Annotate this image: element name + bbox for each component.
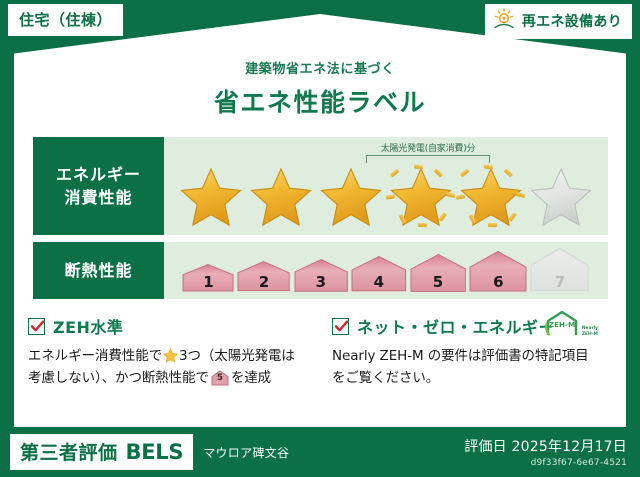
criterion-zeh-text-post: を達成	[231, 370, 271, 386]
label-subtitle: 建築物省エネ法に基づく	[0, 58, 640, 77]
house-grade-number: 6	[469, 273, 527, 291]
criterion-nze-header: ネット・ゼロ・エネルギー ZEH-M Nearly ZEH-M	[332, 313, 598, 339]
house-grade-number: 1	[182, 273, 234, 291]
energy-performance-row: エネルギー 消費性能 太陽光発電(自家消費)分	[33, 137, 608, 235]
house-grade-filled: 5	[410, 253, 467, 294]
zeh-m-caption-line2: ZEH-M	[582, 332, 598, 337]
svg-text:ZEH-M: ZEH-M	[549, 320, 575, 329]
sun-icon	[492, 8, 516, 34]
star-icon	[179, 167, 243, 229]
page-title: 省エネ性能ラベル	[0, 83, 640, 119]
zeh-m-caption-line1: Nearly	[582, 326, 598, 331]
star-filled	[388, 165, 455, 231]
energy-label-line1: エネルギー	[56, 163, 141, 186]
house-grade-number: 4	[351, 273, 407, 291]
house-grade-filled: 4	[351, 255, 407, 294]
house-grade-scale: 1234567	[164, 247, 608, 294]
star-rating	[164, 165, 608, 231]
criterion-zeh-title: ZEH水準	[53, 314, 123, 338]
zeh-m-logo-caption: Nearly ZEH-M	[582, 326, 598, 341]
star-icon	[249, 167, 313, 229]
criterion-zeh-standard: ZEH水準 エネルギー消費性能で 3つ（太陽光発電は考慮しない）、かつ断熱性能で…	[28, 313, 320, 390]
house-grade-filled: 3	[294, 258, 348, 294]
house-grade-filled: 1	[182, 263, 234, 294]
star-filled	[458, 165, 525, 231]
house-grade-empty: 7	[530, 247, 589, 294]
star-empty	[528, 165, 595, 231]
inline-house-grade-number: 5	[211, 371, 229, 386]
label-footer: 第三者評価 BELS マウロア碑文谷 評価日 2025年12月17日 d9f33…	[0, 427, 640, 477]
star-sparkle-icon	[417, 223, 426, 227]
star-icon	[319, 167, 383, 229]
criterion-net-zero-energy: ネット・ゼロ・エネルギー ZEH-M Nearly ZEH-M	[320, 313, 612, 390]
label-titles: 建築物省エネ法に基づく 省エネ性能ラベル	[0, 58, 640, 119]
energy-performance-label: 住宅（住棟） 再エネ設備あり 建築物省エネ法に基づく 省エネ性能ラベル	[0, 0, 640, 477]
house-grade-number: 7	[530, 273, 589, 291]
house-grade-filled: 6	[469, 250, 527, 294]
evaluation-date: 評価日 2025年12月17日	[464, 436, 627, 456]
criterion-nze-title: ネット・ゼロ・エネルギー	[357, 314, 555, 338]
checkbox-checked-icon	[28, 318, 45, 335]
star-sparkle-icon	[487, 223, 496, 227]
star-icon	[389, 167, 453, 229]
inline-house-grade-icon: 5	[211, 370, 229, 386]
star-filled	[318, 165, 385, 231]
insulation-grade-area: 1234567	[164, 242, 608, 299]
criterion-nze-body: Nearly ZEH-M の要件は評価書の特記項目をご覧ください。	[332, 346, 598, 390]
renewable-equipment-label: 再エネ設備あり	[522, 11, 622, 31]
zeh-m-logo: ZEH-M Nearly ZEH-M	[544, 310, 598, 341]
metric-rows: エネルギー 消費性能 太陽光発電(自家消費)分 断熱性能 1234567	[33, 137, 608, 306]
solar-bracket	[366, 155, 490, 163]
inline-star-icon	[163, 348, 178, 363]
house-grade-number: 3	[294, 273, 348, 291]
house-grade-number: 2	[237, 273, 290, 291]
star-icon	[529, 167, 593, 229]
building-type-badge: 住宅（住棟）	[8, 4, 123, 36]
zeh-m-house-icon: ZEH-M	[544, 310, 580, 341]
bels-logo-text: BELS	[126, 440, 184, 464]
criterion-zeh-body: エネルギー消費性能で 3つ（太陽光発電は考慮しない）、かつ断熱性能で 5を達成	[28, 346, 306, 390]
checkbox-checked-icon	[332, 318, 349, 335]
insulation-performance-row: 断熱性能 1234567	[33, 242, 608, 299]
star-filled	[248, 165, 315, 231]
insulation-label: 断熱性能	[64, 259, 132, 282]
house-grade-number: 5	[410, 273, 467, 291]
star-filled	[178, 165, 245, 231]
energy-label-line2: 消費性能	[64, 186, 132, 209]
evaluation-id: d9f33f67-6e67-4521	[464, 458, 627, 468]
solar-generation-note: 太陽光発電(自家消費)分	[360, 141, 496, 154]
third-party-evaluation-label: 第三者評価	[20, 438, 118, 465]
criterion-zeh-text-pre: エネルギー消費性能で	[28, 348, 162, 364]
bels-badge: 第三者評価 BELS	[10, 434, 193, 470]
building-type-label: 住宅（住棟）	[19, 9, 112, 30]
evaluation-info: 評価日 2025年12月17日 d9f33f67-6e67-4521	[464, 436, 627, 468]
criterion-zeh-header: ZEH水準	[28, 313, 306, 339]
renewable-equipment-badge: 再エネ設備あり	[485, 4, 632, 39]
energy-performance-label-box: エネルギー 消費性能	[33, 137, 164, 235]
criteria-section: ZEH水準 エネルギー消費性能で 3つ（太陽光発電は考慮しない）、かつ断熱性能で…	[28, 313, 612, 390]
property-name: マウロア碑文谷	[203, 444, 289, 461]
energy-performance-rating-area: 太陽光発電(自家消費)分	[164, 137, 608, 235]
insulation-performance-label-box: 断熱性能	[33, 242, 164, 299]
house-grade-filled: 2	[237, 260, 290, 294]
star-icon	[459, 167, 523, 229]
